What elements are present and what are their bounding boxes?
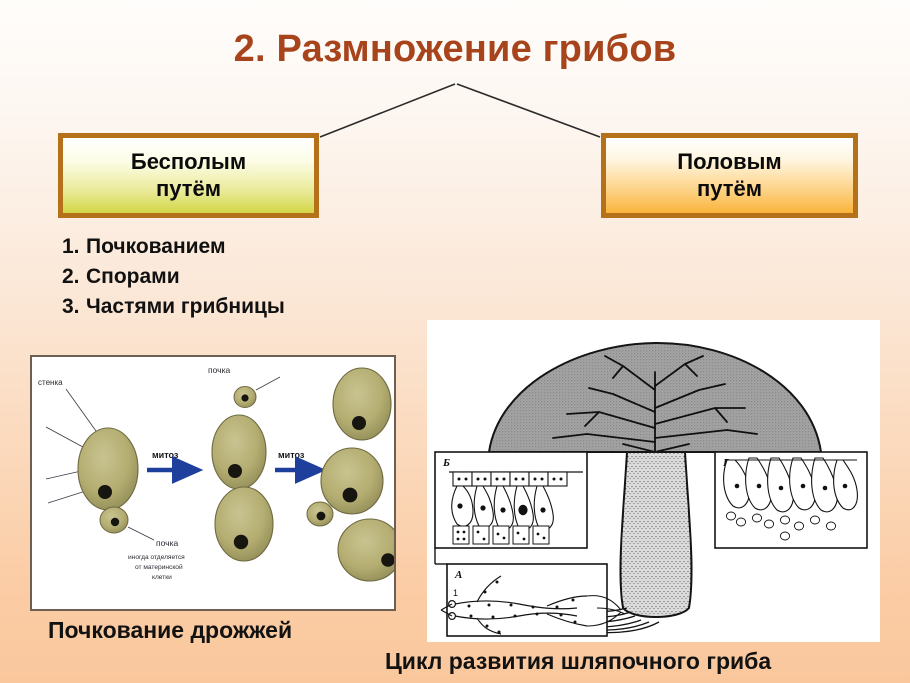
page-title: 2. Размножение грибов (0, 28, 910, 71)
mode-box-sexual-line2: путём (677, 176, 781, 203)
list-item-label: Частями грибницы (86, 295, 285, 318)
yeast-top-bud-leader (256, 377, 280, 390)
mushroom-panel-connector (435, 548, 447, 564)
yeast-stage-1 (78, 428, 138, 533)
mode-box-sexual[interactable]: Половым путём (601, 133, 858, 218)
yeast-bud-leader (128, 527, 154, 540)
mushroom-panel-a: А 1 (441, 564, 625, 636)
slide-canvas: 2. Размножение грибов Бесполым путём Пол… (0, 0, 910, 683)
list-item-number: 1. (62, 232, 86, 262)
list-item: 1.Почкованием (62, 232, 285, 262)
yeast-bud-note-line2: от материнской (135, 563, 183, 571)
yeast-stage-3 (307, 368, 394, 581)
yeast-bud-note-line1: иногда отделяется (128, 554, 185, 561)
mushroom-panel-a-label: А (454, 569, 462, 581)
yeast-stage-2 (212, 387, 273, 562)
mode-box-asexual-line1: Бесполым (131, 149, 246, 176)
yeast-budding-illustration: стенка почка иногда отделяется от матери… (32, 357, 394, 609)
caption-mushroom-lifecycle: Цикл развития шляпочного гриба (385, 648, 771, 675)
yeast-arrow-mitosis-1: митоз (147, 450, 197, 470)
asexual-method-list: 1.Почкованием 2.Спорами 3.Частями грибни… (62, 232, 285, 321)
mushroom-panel-b: Б (435, 452, 587, 548)
list-item: 3.Частями грибницы (62, 292, 285, 322)
yeast-arrow-mitosis-2: митоз (275, 450, 320, 470)
list-item: 2.Спорами (62, 262, 285, 292)
caption-yeast-budding: Почкование дрожжей (48, 617, 292, 644)
mushroom-panel-a-marker: 1 (453, 588, 458, 598)
list-item-label: Спорами (86, 265, 180, 288)
mushroom-lifecycle-illustration: Б (427, 320, 880, 642)
yeast-arrow-label-2: митоз (278, 450, 305, 460)
mushroom-panel-v: В (715, 452, 867, 548)
mode-box-asexual-line2: путём (131, 176, 246, 203)
list-item-label: Почкованием (86, 235, 226, 258)
yeast-label-wall: стенка (38, 378, 63, 387)
mushroom-lifecycle-figure: Б (427, 320, 880, 642)
mode-box-asexual[interactable]: Бесполым путём (58, 133, 319, 218)
mode-box-sexual-line1: Половым (677, 149, 781, 176)
yeast-arrow-label-1: митоз (152, 450, 179, 460)
yeast-label-bud-bottom: почка (156, 538, 178, 548)
mushroom-panel-b-label: Б (442, 457, 450, 469)
mushroom-stem (620, 452, 691, 617)
yeast-bud-note-line3: клетки (152, 574, 172, 581)
yeast-label-bud-top: почка (208, 365, 230, 375)
yeast-budding-figure: стенка почка иногда отделяется от матери… (30, 355, 396, 611)
list-item-number: 2. (62, 262, 86, 292)
list-item-number: 3. (62, 292, 86, 322)
